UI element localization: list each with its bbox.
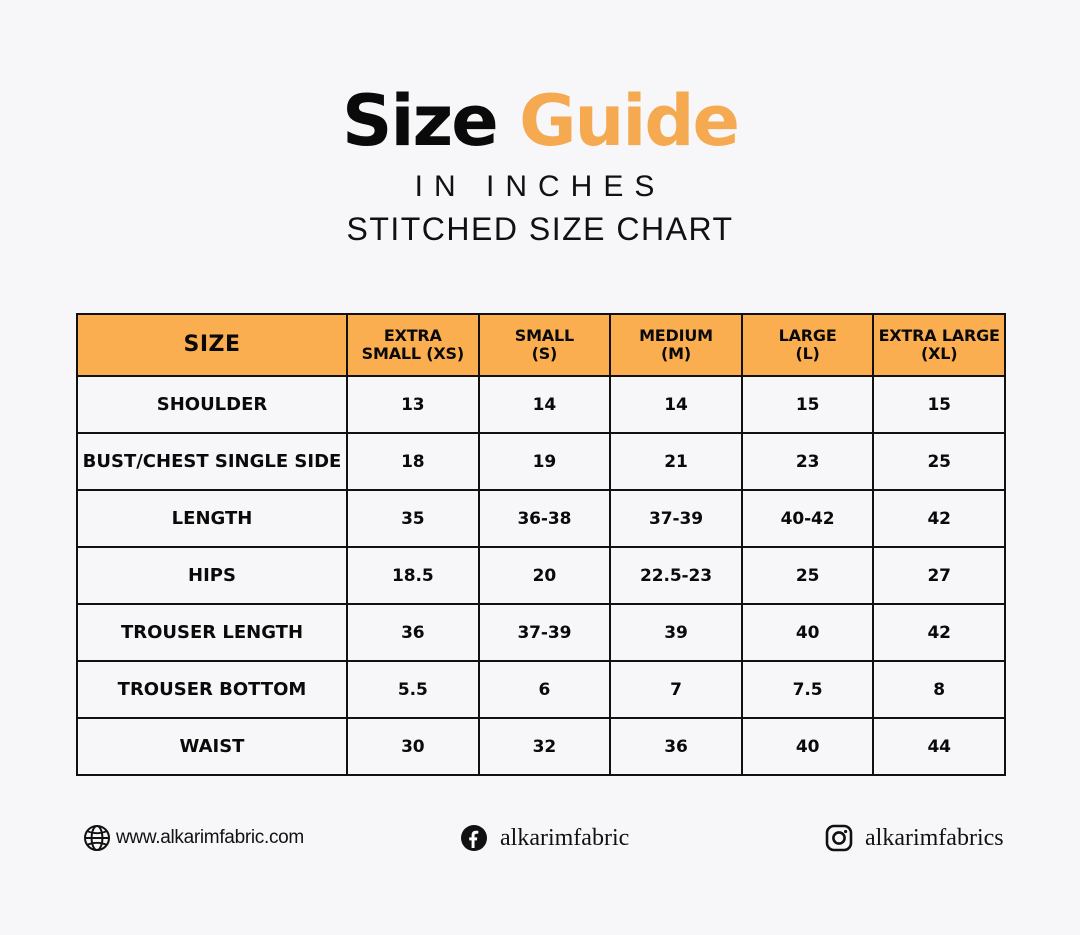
row-label-trouser-length: TROUSER LENGTH [77, 604, 347, 661]
title-block: Size Guide IN INCHES STITCHED SIZE CHART [0, 86, 1080, 247]
cell-hips-xs: 18.5 [347, 547, 479, 604]
footer: www.alkarimfabric.com alkarimfabric alka… [76, 818, 1004, 874]
cell-hips-s: 20 [479, 547, 611, 604]
cell-hips-m: 22.5-23 [610, 547, 742, 604]
row-label-trouser-bottom: TROUSER BOTTOM [77, 661, 347, 718]
cell-trouser-length-xl: 42 [873, 604, 1005, 661]
size-chart-table: SIZE EXTRASMALL (XS) SMALL(S) MEDIUM(M) … [76, 313, 1006, 776]
cell-waist-s: 32 [479, 718, 611, 775]
subtitle-chart-type: STITCHED SIZE CHART [0, 211, 1080, 248]
size-chart-table-container: SIZE EXTRASMALL (XS) SMALL(S) MEDIUM(M) … [76, 313, 1004, 776]
cell-waist-xs: 30 [347, 718, 479, 775]
cell-length-m: 37-39 [610, 490, 742, 547]
cell-trouser-bottom-xs: 5.5 [347, 661, 479, 718]
table-header-row: SIZE EXTRASMALL (XS) SMALL(S) MEDIUM(M) … [77, 314, 1005, 376]
row-label-length: LENGTH [77, 490, 347, 547]
cell-bust-xs: 18 [347, 433, 479, 490]
table-row: BUST/CHEST SINGLE SIDE 18 19 21 23 25 [77, 433, 1005, 490]
cell-length-xs: 35 [347, 490, 479, 547]
cell-length-s: 36-38 [479, 490, 611, 547]
cell-trouser-bottom-m: 7 [610, 661, 742, 718]
table-row: TROUSER BOTTOM 5.5 6 7 7.5 8 [77, 661, 1005, 718]
footer-instagram[interactable]: alkarimfabrics [824, 818, 1004, 858]
cell-trouser-length-l: 40 [742, 604, 874, 661]
table-row: LENGTH 35 36-38 37-39 40-42 42 [77, 490, 1005, 547]
table-row: WAIST 30 32 36 40 44 [77, 718, 1005, 775]
cell-bust-s: 19 [479, 433, 611, 490]
facebook-icon [459, 823, 489, 853]
column-header-s: SMALL(S) [479, 314, 611, 376]
column-header-xl: EXTRA LARGE(XL) [873, 314, 1005, 376]
table-row: HIPS 18.5 20 22.5-23 25 27 [77, 547, 1005, 604]
subtitle-units: IN INCHES [0, 170, 1080, 205]
row-label-waist: WAIST [77, 718, 347, 775]
page-title: Size Guide [0, 86, 1080, 156]
cell-bust-m: 21 [610, 433, 742, 490]
instagram-icon [824, 823, 854, 853]
row-label-shoulder: SHOULDER [77, 376, 347, 433]
cell-waist-xl: 44 [873, 718, 1005, 775]
column-header-m: MEDIUM(M) [610, 314, 742, 376]
column-header-xs: EXTRASMALL (XS) [347, 314, 479, 376]
footer-website-label: www.alkarimfabric.com [116, 827, 304, 849]
title-word-size: Size [342, 80, 497, 162]
cell-bust-xl: 25 [873, 433, 1005, 490]
cell-trouser-length-m: 39 [610, 604, 742, 661]
cell-bust-l: 23 [742, 433, 874, 490]
cell-trouser-length-s: 37-39 [479, 604, 611, 661]
footer-facebook-label: alkarimfabric [500, 825, 629, 852]
row-label-bust-chest: BUST/CHEST SINGLE SIDE [77, 433, 347, 490]
cell-shoulder-xs: 13 [347, 376, 479, 433]
table-row: TROUSER LENGTH 36 37-39 39 40 42 [77, 604, 1005, 661]
cell-trouser-bottom-s: 6 [479, 661, 611, 718]
table-header: SIZE EXTRASMALL (XS) SMALL(S) MEDIUM(M) … [77, 314, 1005, 376]
cell-hips-l: 25 [742, 547, 874, 604]
column-header-size: SIZE [77, 314, 347, 376]
footer-website[interactable]: www.alkarimfabric.com [82, 818, 304, 858]
row-label-hips: HIPS [77, 547, 347, 604]
cell-trouser-bottom-l: 7.5 [742, 661, 874, 718]
cell-trouser-length-xs: 36 [347, 604, 479, 661]
cell-shoulder-s: 14 [479, 376, 611, 433]
size-guide-page: Size Guide IN INCHES STITCHED SIZE CHART… [0, 0, 1080, 935]
footer-instagram-label: alkarimfabrics [865, 825, 1004, 852]
table-body: SHOULDER 13 14 14 15 15 BUST/CHEST SINGL… [77, 376, 1005, 775]
globe-icon [82, 823, 112, 853]
cell-waist-m: 36 [610, 718, 742, 775]
cell-shoulder-xl: 15 [873, 376, 1005, 433]
cell-length-xl: 42 [873, 490, 1005, 547]
cell-hips-xl: 27 [873, 547, 1005, 604]
title-word-guide: Guide [497, 80, 738, 162]
cell-trouser-bottom-xl: 8 [873, 661, 1005, 718]
table-row: SHOULDER 13 14 14 15 15 [77, 376, 1005, 433]
cell-waist-l: 40 [742, 718, 874, 775]
cell-shoulder-m: 14 [610, 376, 742, 433]
footer-facebook[interactable]: alkarimfabric [459, 818, 629, 858]
cell-length-l: 40-42 [742, 490, 874, 547]
column-header-l: LARGE(L) [742, 314, 874, 376]
cell-shoulder-l: 15 [742, 376, 874, 433]
